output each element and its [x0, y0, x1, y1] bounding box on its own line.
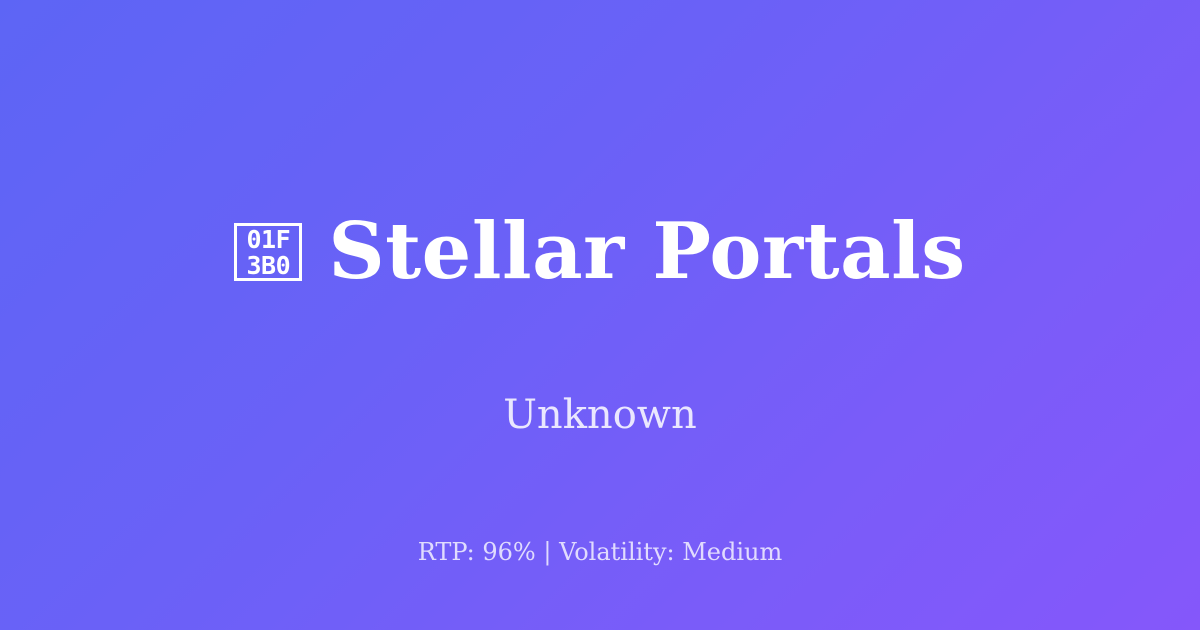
title-row: 01F 3B0 Stellar Portals [234, 161, 965, 344]
game-social-card: 01F 3B0 Stellar Portals Unknown RTP: 96%… [0, 0, 1200, 630]
tofu-codepoint-row-bottom: 3B0 [247, 253, 291, 279]
slot-machine-icon: 01F 3B0 [234, 223, 302, 281]
tofu-codepoint-row-top: 01F [247, 227, 291, 253]
game-title: Stellar Portals [328, 213, 965, 291]
game-stats-footer: RTP: 96% | Volatility: Medium [0, 540, 1200, 564]
game-provider-subtitle: Unknown [503, 395, 697, 435]
